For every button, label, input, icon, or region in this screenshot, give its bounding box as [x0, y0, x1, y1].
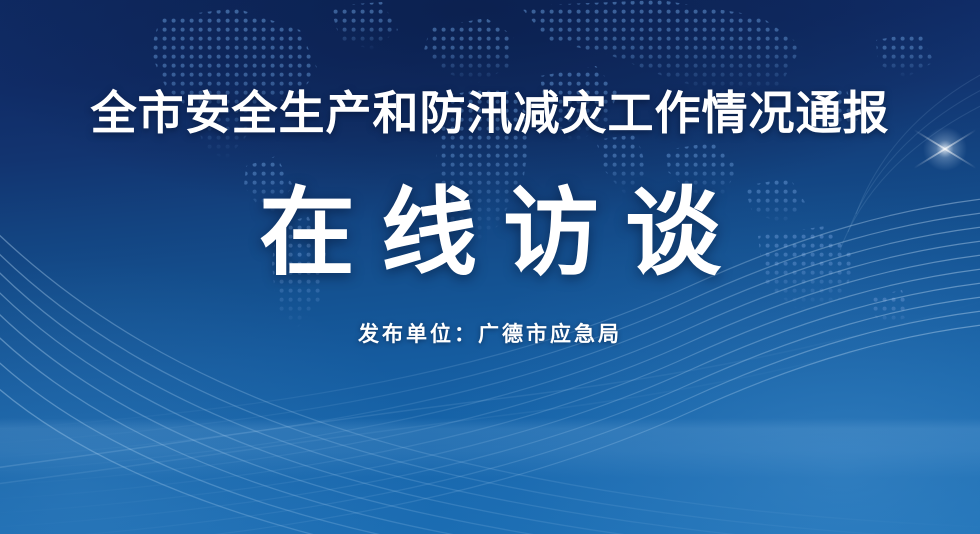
page-title: 全市安全生产和防汛减灾工作情况通报	[0, 84, 980, 142]
poster-canvas: 全市安全生产和防汛减灾工作情况通报 在线访谈 发布单位：广德市应急局	[0, 0, 980, 534]
publisher-line: 发布单位：广德市应急局	[0, 319, 980, 349]
headline: 在线访谈	[0, 178, 980, 290]
poster-content: 全市安全生产和防汛减灾工作情况通报 在线访谈 发布单位：广德市应急局	[0, 0, 980, 534]
